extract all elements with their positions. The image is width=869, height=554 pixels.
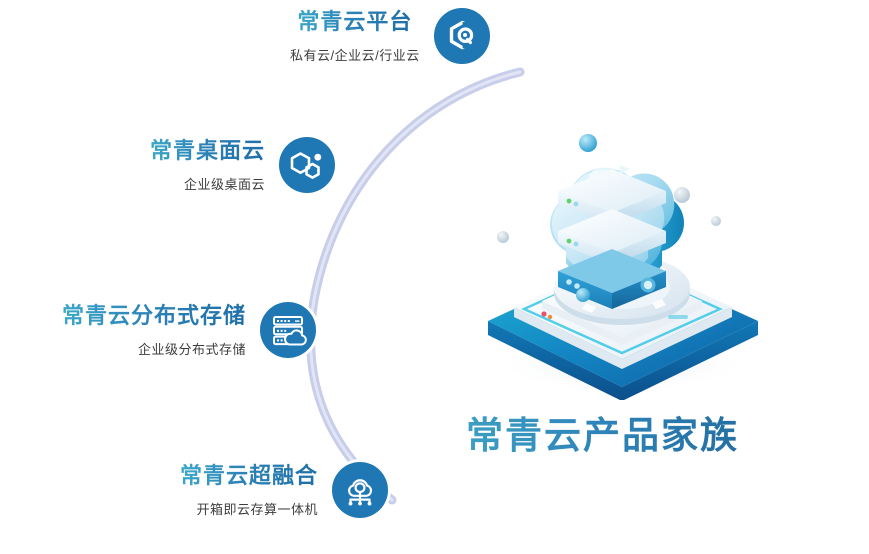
product-node-hci-title: 常青云超融合 — [180, 462, 318, 490]
server-cloud-icon[interactable] — [260, 302, 316, 358]
product-node-desktop[interactable]: 常青桌面云 企业级桌面云 — [150, 137, 335, 193]
product-node-platform[interactable]: 常青云平台 私有云/企业云/行业云 — [290, 8, 490, 64]
cloud-network-icon[interactable] — [332, 462, 388, 518]
product-node-desktop-subtitle: 企业级桌面云 — [184, 174, 265, 193]
product-node-storage[interactable]: 常青云分布式存储 企业级分布式存储 — [62, 302, 316, 358]
product-node-hci-subtitle: 开箱即云存算一体机 — [197, 499, 319, 518]
product-node-hci-texts: 常青云超融合 开箱即云存算一体机 — [180, 462, 318, 518]
product-node-desktop-title: 常青桌面云 — [150, 137, 265, 165]
product-family-infographic: 常青云平台 私有云/企业云/行业云 常青桌面云 企业级桌面云 — [0, 0, 869, 554]
product-node-platform-subtitle: 私有云/企业云/行业云 — [290, 45, 420, 64]
product-node-desktop-texts: 常青桌面云 企业级桌面云 — [150, 137, 265, 193]
product-node-storage-title: 常青云分布式存储 — [62, 302, 246, 330]
product-node-platform-title: 常青云平台 — [297, 8, 412, 36]
product-node-hci[interactable]: 常青云超融合 开箱即云存算一体机 — [180, 462, 388, 518]
cloud-server-on-platform-3d — [470, 125, 770, 400]
product-node-platform-texts: 常青云平台 私有云/企业云/行业云 — [290, 8, 420, 64]
hexagon-nodes-icon[interactable] — [279, 137, 335, 193]
product-node-storage-texts: 常青云分布式存储 企业级分布式存储 — [62, 302, 246, 358]
page-title: 常青云产品家族 — [466, 405, 766, 459]
product-node-storage-subtitle: 企业级分布式存储 — [138, 339, 246, 358]
cq-hexagon-logo-icon[interactable] — [434, 8, 490, 64]
